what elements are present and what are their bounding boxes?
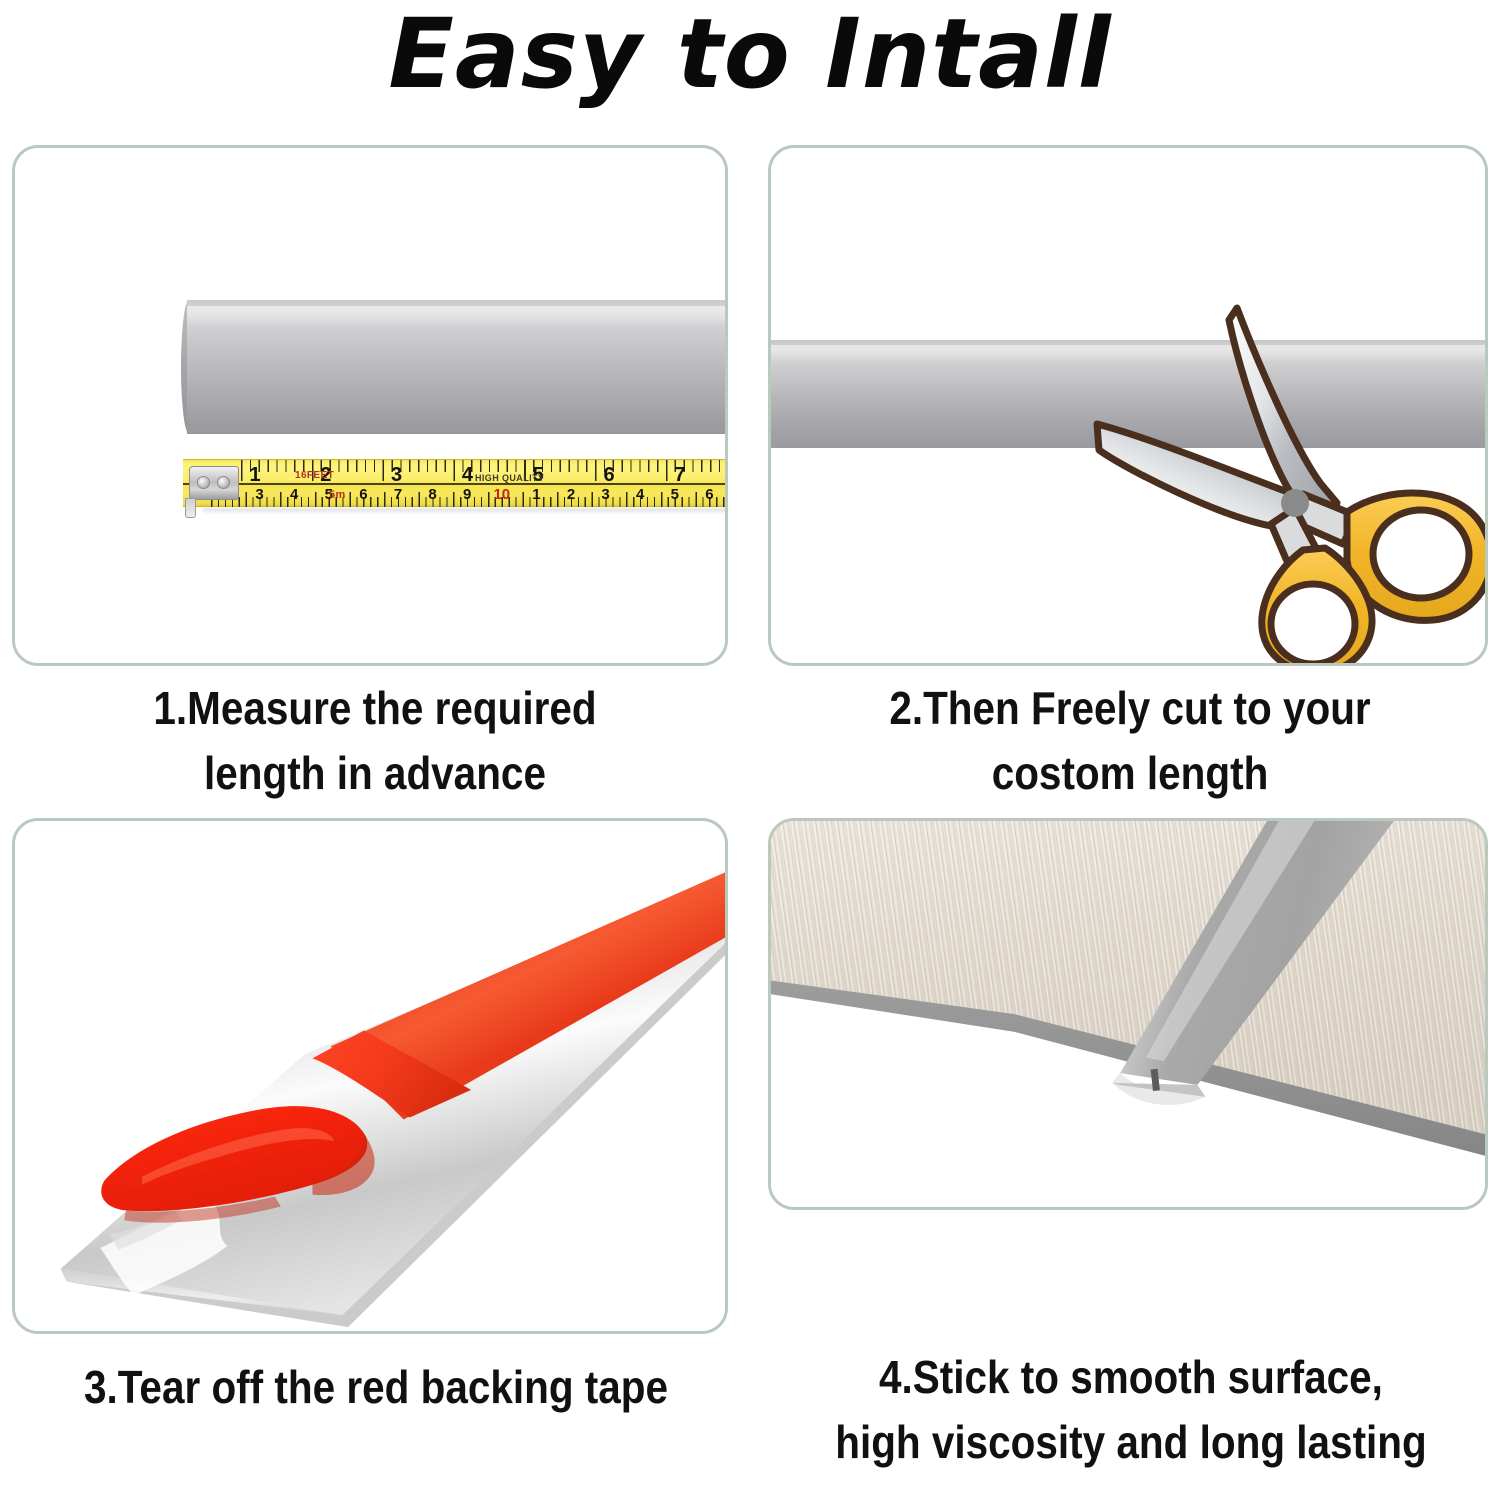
step-panel-measure: 1234567 2345678910123456789 16FEET 5m HI… [12,145,728,666]
tape-cm-label: 4 [636,486,644,503]
tape-shadow [203,508,728,515]
scissors-icon [1089,298,1488,666]
step-panel-cut [768,145,1488,666]
tape-cm-label: 6 [359,486,367,503]
step-panel-peel [12,818,728,1334]
tape-inch-label: 3 [391,464,402,487]
step-caption-1: 1.Measure the required length in advance [71,676,678,807]
tape-cm-label: 9 [463,486,471,503]
tape-cm-label: 2 [567,486,575,503]
step-caption-3: 3.Tear off the red backing tape [56,1355,697,1420]
tape-cm-label: 8 [428,486,436,503]
step-caption-2: 2.Then Freely cut to your costom length [822,676,1438,807]
tape-inch-label: 4 [462,464,473,487]
tape-inch-label: 6 [603,464,614,487]
tape-cm-label: 5 [671,486,679,503]
floor-installation-illustration [771,821,1485,1207]
tape-cm-label: 10 [493,486,510,503]
tape-cm-label: 6 [705,486,713,503]
tape-cm-label: 4 [290,486,298,503]
tape-inch-label: 7 [674,464,685,487]
infographic-root: Easy to Intall 1234567 23456789101234567… [0,0,1500,1485]
tape-inch-numbers: 1234567 [183,464,728,484]
strip-highlight [187,306,728,328]
tape-cm-numbers: 2345678910123456789 [183,486,728,506]
adhesive-strip-illustration [15,821,725,1331]
page-title: Easy to Intall [0,4,1500,105]
tape-brand-metric: 5m [329,489,346,501]
tape-brand-imperial: 16FEET [295,470,334,481]
tape-cm-label: 1 [532,486,540,503]
step-panel-stick [768,818,1488,1210]
tape-measure-illustration: 1234567 2345678910123456789 16FEET 5m HI… [183,456,728,511]
tape-brand-quality: HIGH QUALITY [475,473,544,483]
tape-cm-label: 7 [394,486,402,503]
tape-cm-label: 3 [255,486,263,503]
tape-cm-label: 3 [601,486,609,503]
tape-inch-label: 1 [249,464,260,487]
tape-hook-icon [183,462,241,506]
step-caption-4: 4.Stick to smooth surface, high viscosit… [806,1345,1455,1476]
